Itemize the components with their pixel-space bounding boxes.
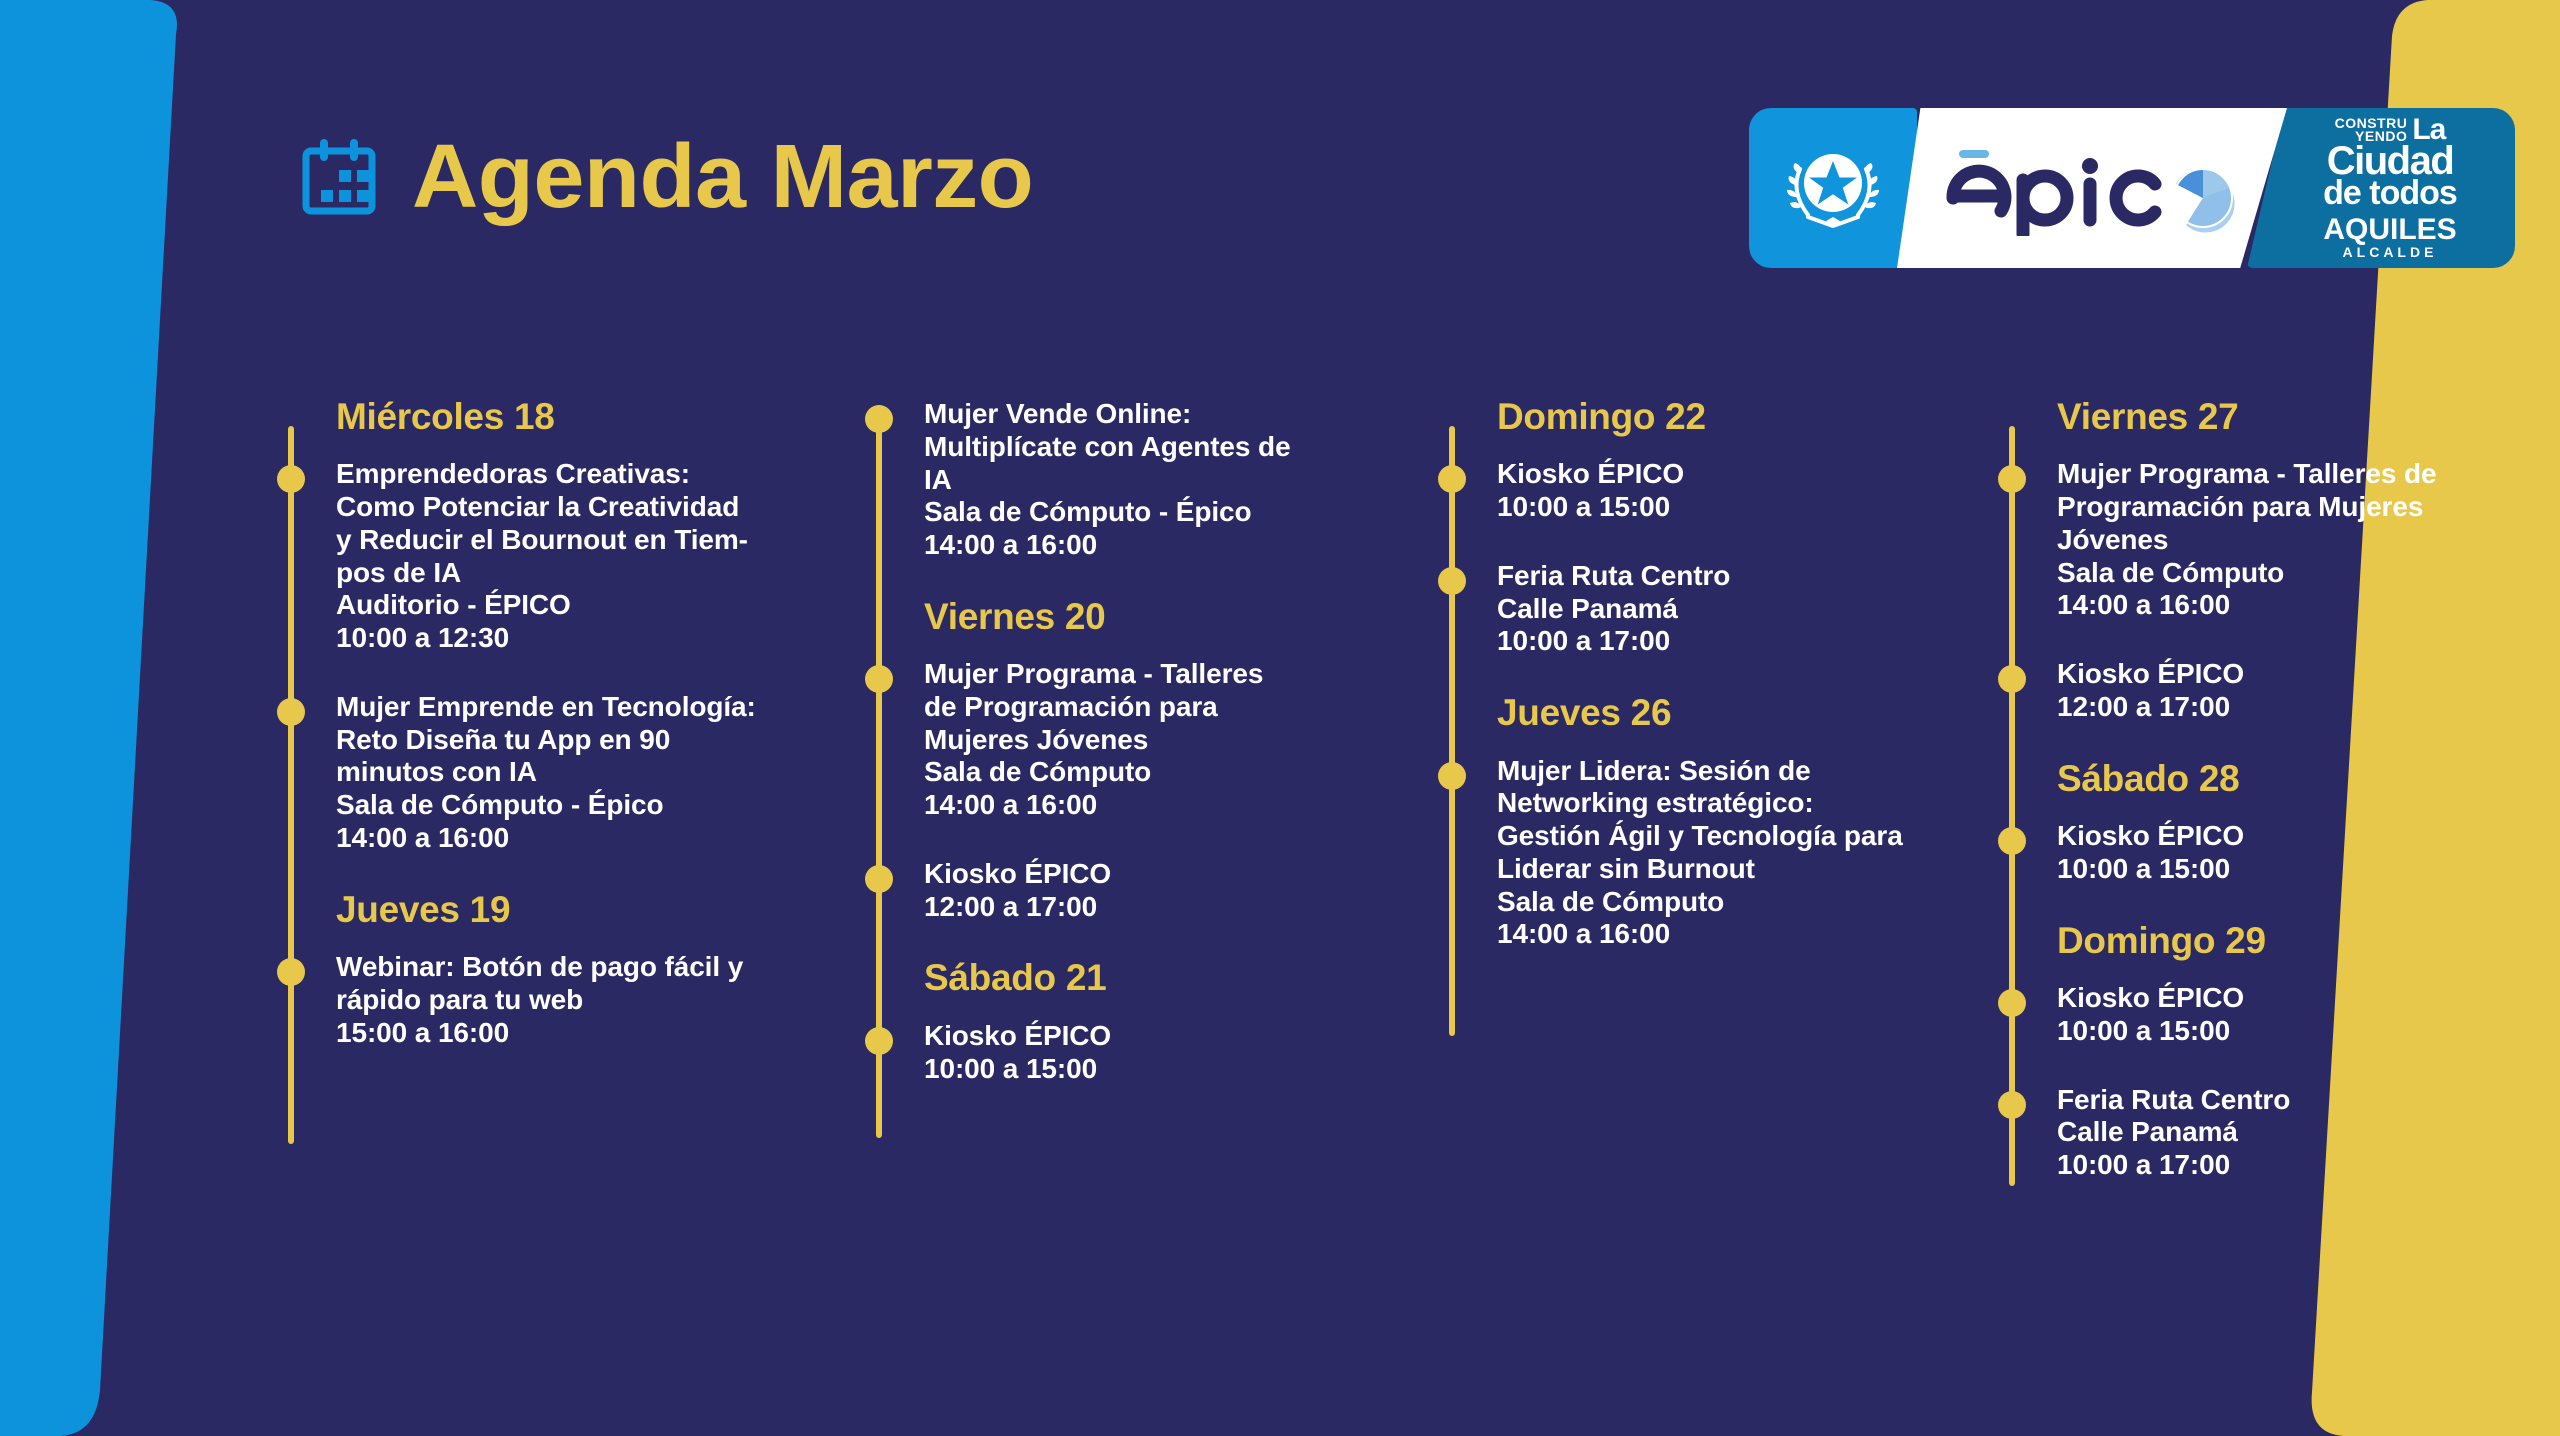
event-line: Mujer Programa - Talleres de: [2057, 458, 2539, 491]
agenda-event: Kiosko ÉPICO12:00 a 17:00: [2057, 658, 2539, 724]
event-line: Auditorio - ÉPICO: [336, 589, 848, 622]
event-line: Kiosko ÉPICO: [2057, 820, 2539, 853]
event-line: rápido para tu web: [336, 984, 848, 1017]
event-line: Kiosko ÉPICO: [1497, 458, 1994, 491]
aquiles-line-ciudad: Ciudad: [2323, 144, 2457, 178]
timeline-dot-icon: [865, 1027, 893, 1055]
page-title: Agenda Marzo: [412, 132, 1033, 222]
event-text: Mujer Emprende en Tecnología:Reto Diseña…: [336, 691, 848, 855]
agenda-event: Kiosko ÉPICO10:00 a 15:00: [2057, 820, 2539, 886]
event-text: Mujer Lidera: Sesión deNetworking estrat…: [1497, 755, 1994, 952]
event-line: Reto Diseña tu App en 90: [336, 724, 848, 757]
event-line: Programación para Mujeres: [2057, 491, 2539, 524]
timeline-track: Viernes 27Mujer Programa - Talleres dePr…: [2009, 398, 2539, 1182]
agenda-columns: Miércoles 18Emprendedoras Creativas:Como…: [0, 398, 2560, 1398]
event-text: Kiosko ÉPICO12:00 a 17:00: [924, 858, 1436, 924]
event-line: Sala de Cómputo - Épico: [924, 496, 1436, 529]
day-heading: Domingo 29: [2057, 922, 2539, 960]
event-line: 10:00 a 12:30: [336, 622, 848, 655]
event-line: Kiosko ÉPICO: [2057, 982, 2539, 1015]
aquiles-line-aquiles: AQUILES: [2323, 215, 2457, 245]
event-text: Kiosko ÉPICO12:00 a 17:00: [2057, 658, 2539, 724]
event-line: Kiosko ÉPICO: [2057, 658, 2539, 691]
poster-header: Agenda Marzo: [0, 0, 2560, 300]
aquiles-logo-plate: CONSTRU YENDO La Ciudad de todos AQUILES…: [2247, 108, 2515, 268]
timeline-dot-icon: [865, 865, 893, 893]
event-text: Mujer Programa - Talleres deProgramación…: [2057, 458, 2539, 622]
event-text: Kiosko ÉPICO10:00 a 15:00: [2057, 982, 2539, 1048]
event-line: 14:00 a 16:00: [924, 789, 1436, 822]
event-text: Mujer Vende Online:Multiplícate con Agen…: [924, 398, 1436, 562]
event-text: Mujer Programa - Talleresde Programación…: [924, 658, 1436, 822]
timeline-dot-icon: [277, 698, 305, 726]
event-line: Emprendedoras Creativas:: [336, 458, 848, 491]
agenda-event: Feria Ruta CentroCalle Panamá10:00 a 17:…: [1497, 560, 1994, 658]
agenda-column-col-20-21: Mujer Vende Online:Multiplícate con Agen…: [876, 398, 1436, 1398]
timeline-track: Domingo 22Kiosko ÉPICO10:00 a 15:00Feria…: [1449, 398, 1994, 951]
timeline-dot-icon: [277, 958, 305, 986]
agenda-event: Mujer Emprende en Tecnología:Reto Diseña…: [336, 691, 848, 855]
agenda-event: Kiosko ÉPICO10:00 a 15:00: [2057, 982, 2539, 1048]
event-line: Networking estratégico:: [1497, 787, 1994, 820]
agenda-event: Mujer Vende Online:Multiplícate con Agen…: [924, 398, 1436, 562]
timeline-dot-icon: [865, 405, 893, 433]
event-text: Webinar: Botón de pago fácil yrápido par…: [336, 951, 848, 1049]
event-line: 12:00 a 17:00: [2057, 691, 2539, 724]
day-heading: Miércoles 18: [336, 398, 848, 436]
event-line: Multiplícate con Agentes de: [924, 431, 1436, 464]
epico-logo-plate: [1897, 108, 2287, 268]
event-line: Mujer Vende Online:: [924, 398, 1436, 431]
aquiles-alcalde-logo: CONSTRU YENDO La Ciudad de todos AQUILES…: [2323, 117, 2457, 259]
event-line: Calle Panamá: [2057, 1116, 2539, 1149]
event-line: Mujer Lidera: Sesión de: [1497, 755, 1994, 788]
agenda-column-col-22-26: Domingo 22Kiosko ÉPICO10:00 a 15:00Feria…: [1449, 398, 1994, 1398]
city-seal-icon: [1778, 133, 1888, 243]
event-line: y Reducir el Bournout en Tiem-: [336, 524, 848, 557]
agenda-event: Emprendedoras Creativas:Como Potenciar l…: [336, 458, 848, 655]
poster-canvas: Agenda Marzo: [0, 0, 2560, 1436]
timeline-dot-icon: [1998, 1091, 2026, 1119]
epico-logo: [1945, 140, 2245, 236]
event-line: 14:00 a 16:00: [2057, 589, 2539, 622]
event-line: Calle Panamá: [1497, 593, 1994, 626]
timeline-dot-icon: [277, 465, 305, 493]
event-line: 12:00 a 17:00: [924, 891, 1436, 924]
event-line: Kiosko ÉPICO: [924, 1020, 1436, 1053]
event-line: 10:00 a 15:00: [924, 1053, 1436, 1086]
event-line: Mujer Programa - Talleres: [924, 658, 1436, 691]
event-line: Como Potenciar la Creatividad: [336, 491, 848, 524]
event-line: 10:00 a 15:00: [1497, 491, 1994, 524]
agenda-event: Kiosko ÉPICO10:00 a 15:00: [1497, 458, 1994, 524]
agenda-event: Kiosko ÉPICO12:00 a 17:00: [924, 858, 1436, 924]
event-line: Sala de Cómputo: [924, 756, 1436, 789]
event-line: Sala de Cómputo - Épico: [336, 789, 848, 822]
day-heading: Sábado 21: [924, 959, 1436, 997]
event-line: Feria Ruta Centro: [2057, 1084, 2539, 1117]
event-line: Mujer Emprende en Tecnología:: [336, 691, 848, 724]
event-line: Jóvenes: [2057, 524, 2539, 557]
aquiles-line-alcalde: ALCALDE: [2323, 245, 2457, 259]
event-line: Sala de Cómputo: [2057, 557, 2539, 590]
event-line: Mujeres Jóvenes: [924, 724, 1436, 757]
timeline-dot-icon: [1438, 762, 1466, 790]
event-text: Kiosko ÉPICO10:00 a 15:00: [924, 1020, 1436, 1086]
timeline-dot-icon: [865, 665, 893, 693]
agenda-event: Webinar: Botón de pago fácil yrápido par…: [336, 951, 848, 1049]
day-heading: Domingo 22: [1497, 398, 1994, 436]
agenda-event: Mujer Programa - Talleresde Programación…: [924, 658, 1436, 822]
agenda-event: Mujer Lidera: Sesión deNetworking estrat…: [1497, 755, 1994, 952]
agenda-event: Feria Ruta CentroCalle Panamá10:00 a 17:…: [2057, 1084, 2539, 1182]
event-line: 15:00 a 16:00: [336, 1017, 848, 1050]
logo-strip: CONSTRU YENDO La Ciudad de todos AQUILES…: [1749, 108, 2515, 268]
day-heading: Sábado 28: [2057, 760, 2539, 798]
aquiles-line-detodos: de todos: [2323, 178, 2457, 208]
title-block: Agenda Marzo: [300, 132, 1021, 222]
event-text: Kiosko ÉPICO10:00 a 15:00: [1497, 458, 1994, 524]
day-heading: Jueves 26: [1497, 694, 1994, 732]
event-line: Liderar sin Burnout: [1497, 853, 1994, 886]
agenda-column-col-18-19: Miércoles 18Emprendedoras Creativas:Como…: [288, 398, 848, 1398]
timeline-dot-icon: [1998, 827, 2026, 855]
event-line: Kiosko ÉPICO: [924, 858, 1436, 891]
calendar-icon: [300, 137, 378, 217]
event-line: Webinar: Botón de pago fácil y: [336, 951, 848, 984]
event-line: 10:00 a 17:00: [1497, 625, 1994, 658]
event-line: 14:00 a 16:00: [1497, 918, 1994, 951]
event-line: Gestión Ágil y Tecnología para: [1497, 820, 1994, 853]
timeline-dot-icon: [1998, 989, 2026, 1017]
timeline-dot-icon: [1438, 465, 1466, 493]
timeline-dot-icon: [1998, 665, 2026, 693]
event-line: Sala de Cómputo: [1497, 886, 1994, 919]
timeline-dot-icon: [1998, 465, 2026, 493]
day-heading: Viernes 20: [924, 598, 1436, 636]
timeline-track: Mujer Vende Online:Multiplícate con Agen…: [876, 398, 1436, 1085]
event-line: 10:00 a 17:00: [2057, 1149, 2539, 1182]
event-line: 14:00 a 16:00: [336, 822, 848, 855]
event-line: 10:00 a 15:00: [2057, 1015, 2539, 1048]
event-line: pos de IA: [336, 557, 848, 590]
event-text: Feria Ruta CentroCalle Panamá10:00 a 17:…: [1497, 560, 1994, 658]
day-heading: Jueves 19: [336, 891, 848, 929]
event-line: Feria Ruta Centro: [1497, 560, 1994, 593]
agenda-event: Mujer Programa - Talleres deProgramación…: [2057, 458, 2539, 622]
event-line: 14:00 a 16:00: [924, 529, 1436, 562]
day-heading: Viernes 27: [2057, 398, 2539, 436]
event-line: de Programación para: [924, 691, 1436, 724]
agenda-column-col-27-29: Viernes 27Mujer Programa - Talleres dePr…: [2009, 398, 2539, 1398]
timeline-dot-icon: [1438, 567, 1466, 595]
event-text: Feria Ruta CentroCalle Panamá10:00 a 17:…: [2057, 1084, 2539, 1182]
agenda-event: Kiosko ÉPICO10:00 a 15:00: [924, 1020, 1436, 1086]
event-text: Kiosko ÉPICO10:00 a 15:00: [2057, 820, 2539, 886]
event-line: IA: [924, 464, 1436, 497]
city-seal-plate: [1749, 108, 1917, 268]
event-text: Emprendedoras Creativas:Como Potenciar l…: [336, 458, 848, 655]
event-line: minutos con IA: [336, 756, 848, 789]
event-line: 10:00 a 15:00: [2057, 853, 2539, 886]
timeline-track: Miércoles 18Emprendedoras Creativas:Como…: [288, 398, 848, 1049]
